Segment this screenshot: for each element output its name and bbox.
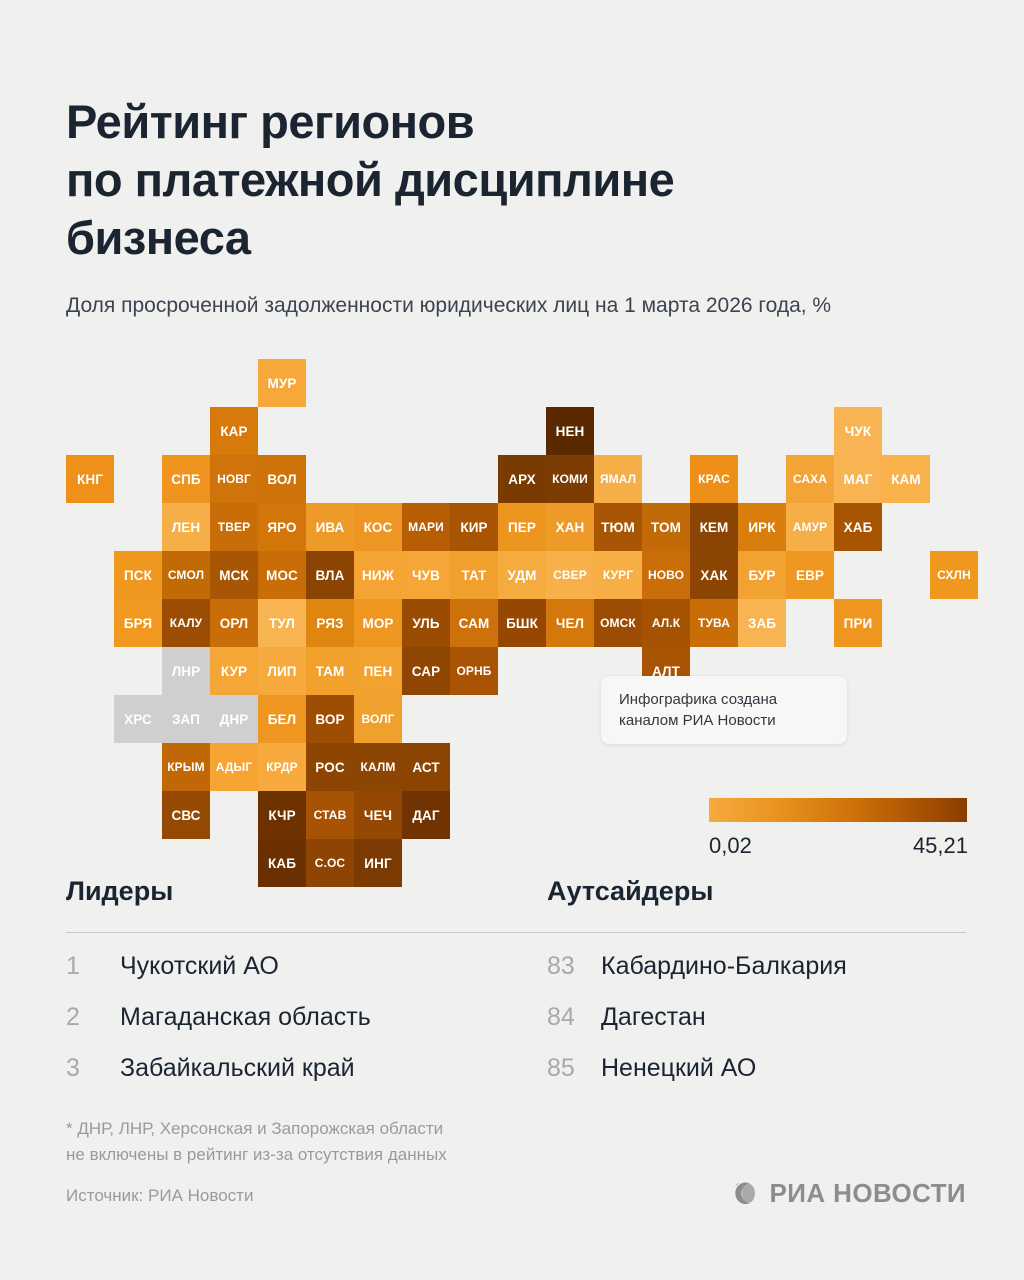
map-tile-УДМ: УДМ (498, 551, 546, 599)
map-tile-АДЫГ: АДЫГ (210, 743, 258, 791)
map-tile-ЧЕЧ: ЧЕЧ (354, 791, 402, 839)
leaders-heading: Лидеры (66, 876, 173, 907)
map-tile-ПСК: ПСК (114, 551, 162, 599)
attribution-callout-text: Инфографика создана каналом РИА Новости (601, 689, 777, 731)
map-tile-РЯЗ: РЯЗ (306, 599, 354, 647)
map-tile-ТАМ: ТАМ (306, 647, 354, 695)
infographic-page: Рейтинг регионов по платежной дисциплине… (0, 0, 1024, 1280)
map-tile-КОС: КОС (354, 503, 402, 551)
map-tile-СМОЛ: СМОЛ (162, 551, 210, 599)
map-tile-ПРИ: ПРИ (834, 599, 882, 647)
brand-name: РИА НОВОСТИ (770, 1178, 966, 1209)
map-tile-МОС: МОС (258, 551, 306, 599)
map-tile-СХЛН: СХЛН (930, 551, 978, 599)
ranking-row: 84Дагестан (547, 1003, 977, 1054)
map-tile-НЕН: НЕН (546, 407, 594, 455)
ranking-region-name: Забайкальский край (120, 1054, 355, 1083)
map-tile-ЯМАЛ: ЯМАЛ (594, 455, 642, 503)
map-tile-ТОМ: ТОМ (642, 503, 690, 551)
map-tile-КРАС: КРАС (690, 455, 738, 503)
map-tile-ПЕР: ПЕР (498, 503, 546, 551)
map-tile-ТЮМ: ТЮМ (594, 503, 642, 551)
map-tile-БЕЛ: БЕЛ (258, 695, 306, 743)
map-tile-НОВГ: НОВГ (210, 455, 258, 503)
ranking-region-name: Кабардино-Балкария (601, 952, 847, 981)
map-tile-КНГ: КНГ (66, 455, 114, 503)
map-tile-КУР: КУР (210, 647, 258, 695)
map-tile-САР: САР (402, 647, 450, 695)
map-tile-КРЫМ: КРЫМ (162, 743, 210, 791)
map-tile-ХАН: ХАН (546, 503, 594, 551)
map-tile-ХАК: ХАК (690, 551, 738, 599)
map-tile-КАР: КАР (210, 407, 258, 455)
map-tile-НОВО: НОВО (642, 551, 690, 599)
map-tile-ЧУВ: ЧУВ (402, 551, 450, 599)
map-tile-БУР: БУР (738, 551, 786, 599)
source-label: Источник: РИА Новости (66, 1186, 253, 1206)
map-tile-ЧУК: ЧУК (834, 407, 882, 455)
map-tile-АМУР: АМУР (786, 503, 834, 551)
map-tile-ОМСК: ОМСК (594, 599, 642, 647)
map-tile-КИР: КИР (450, 503, 498, 551)
section-divider (66, 932, 966, 933)
map-tile-СПБ: СПБ (162, 455, 210, 503)
ranking-region-name: Чукотский АО (120, 952, 279, 981)
map-tile-КРДР: КРДР (258, 743, 306, 791)
map-tile-МУР: МУР (258, 359, 306, 407)
ria-globe-icon (730, 1179, 760, 1209)
map-tile-МОР: МОР (354, 599, 402, 647)
map-tile-САХА: САХА (786, 455, 834, 503)
ranking-position: 1 (66, 952, 120, 981)
map-tile-ДНР: ДНР (210, 695, 258, 743)
map-tile-ВОР: ВОР (306, 695, 354, 743)
map-tile-ИНГ: ИНГ (354, 839, 402, 887)
map-tile-СВС: СВС (162, 791, 210, 839)
ranking-row: 3Забайкальский край (66, 1054, 536, 1105)
map-tile-УЛЬ: УЛЬ (402, 599, 450, 647)
leaders-list: 1Чукотский АО2Магаданская область3Забайк… (66, 952, 536, 1105)
map-tile-ТАТ: ТАТ (450, 551, 498, 599)
map-tile-ЛНР: ЛНР (162, 647, 210, 695)
map-tile-САМ: САМ (450, 599, 498, 647)
map-tile-МСК: МСК (210, 551, 258, 599)
ranking-region-name: Дагестан (601, 1003, 706, 1032)
map-tile-ДАГ: ДАГ (402, 791, 450, 839)
map-tile-БРЯ: БРЯ (114, 599, 162, 647)
map-tile-КАБ: КАБ (258, 839, 306, 887)
map-tile-ИРК: ИРК (738, 503, 786, 551)
map-tile-ЯРО: ЯРО (258, 503, 306, 551)
map-tile-ЧЕЛ: ЧЕЛ (546, 599, 594, 647)
map-tile-ЛЕН: ЛЕН (162, 503, 210, 551)
map-tile-СТАВ: СТАВ (306, 791, 354, 839)
ranking-row: 85Ненецкий АО (547, 1054, 977, 1105)
map-tile-КУРГ: КУРГ (594, 551, 642, 599)
map-tile-ТУЛ: ТУЛ (258, 599, 306, 647)
map-tile-ЛИП: ЛИП (258, 647, 306, 695)
ranking-position: 85 (547, 1054, 601, 1083)
ranking-region-name: Магаданская область (120, 1003, 371, 1032)
map-tile-МАРИ: МАРИ (402, 503, 450, 551)
color-scale-min-label: 0,02 (709, 833, 752, 859)
outsiders-list: 83Кабардино-Балкария84Дагестан85Ненецкий… (547, 952, 977, 1105)
map-tile-СВЕР: СВЕР (546, 551, 594, 599)
map-tile-ТУВА: ТУВА (690, 599, 738, 647)
map-tile-ВЛА: ВЛА (306, 551, 354, 599)
map-tile-КАЛУ: КАЛУ (162, 599, 210, 647)
map-tile-АСТ: АСТ (402, 743, 450, 791)
map-tile-ХРС: ХРС (114, 695, 162, 743)
map-tile-МАГ: МАГ (834, 455, 882, 503)
color-scale-max-label: 45,21 (898, 833, 968, 859)
map-tile-ОРЛ: ОРЛ (210, 599, 258, 647)
map-tile-ПЕН: ПЕН (354, 647, 402, 695)
ranking-row: 83Кабардино-Балкария (547, 952, 977, 1003)
footnote: * ДНР, ЛНР, Херсонская и Запорожская обл… (66, 1116, 686, 1168)
color-scale-bar (709, 798, 967, 822)
map-tile-КОМИ: КОМИ (546, 455, 594, 503)
map-tile-ХАБ: ХАБ (834, 503, 882, 551)
ranking-position: 2 (66, 1003, 120, 1032)
map-tile-БШК: БШК (498, 599, 546, 647)
map-tile-АРХ: АРХ (498, 455, 546, 503)
map-tile-ИВА: ИВА (306, 503, 354, 551)
ranking-row: 2Магаданская область (66, 1003, 536, 1054)
map-tile-ВОЛГ: ВОЛГ (354, 695, 402, 743)
brand-logo: РИА НОВОСТИ (730, 1178, 966, 1209)
map-tile-КАЛМ: КАЛМ (354, 743, 402, 791)
map-tile-ВОЛ: ВОЛ (258, 455, 306, 503)
map-tile-ОРНБ: ОРНБ (450, 647, 498, 695)
ranking-region-name: Ненецкий АО (601, 1054, 756, 1083)
map-tile-ЕВР: ЕВР (786, 551, 834, 599)
attribution-callout: Инфографика создана каналом РИА Новости (601, 676, 847, 744)
map-tile-С.ОС: С.ОС (306, 839, 354, 887)
ranking-row: 1Чукотский АО (66, 952, 536, 1003)
map-tile-КЕМ: КЕМ (690, 503, 738, 551)
map-tile-РОС: РОС (306, 743, 354, 791)
ranking-position: 84 (547, 1003, 601, 1032)
map-tile-КЧР: КЧР (258, 791, 306, 839)
ranking-position: 83 (547, 952, 601, 981)
map-tile-АЛ.К: АЛ.К (642, 599, 690, 647)
outsiders-heading: Аутсайдеры (547, 876, 713, 907)
map-tile-КАМ: КАМ (882, 455, 930, 503)
map-tile-ЗАБ: ЗАБ (738, 599, 786, 647)
map-tile-НИЖ: НИЖ (354, 551, 402, 599)
ranking-position: 3 (66, 1054, 120, 1083)
map-tile-ТВЕР: ТВЕР (210, 503, 258, 551)
map-tile-ЗАП: ЗАП (162, 695, 210, 743)
